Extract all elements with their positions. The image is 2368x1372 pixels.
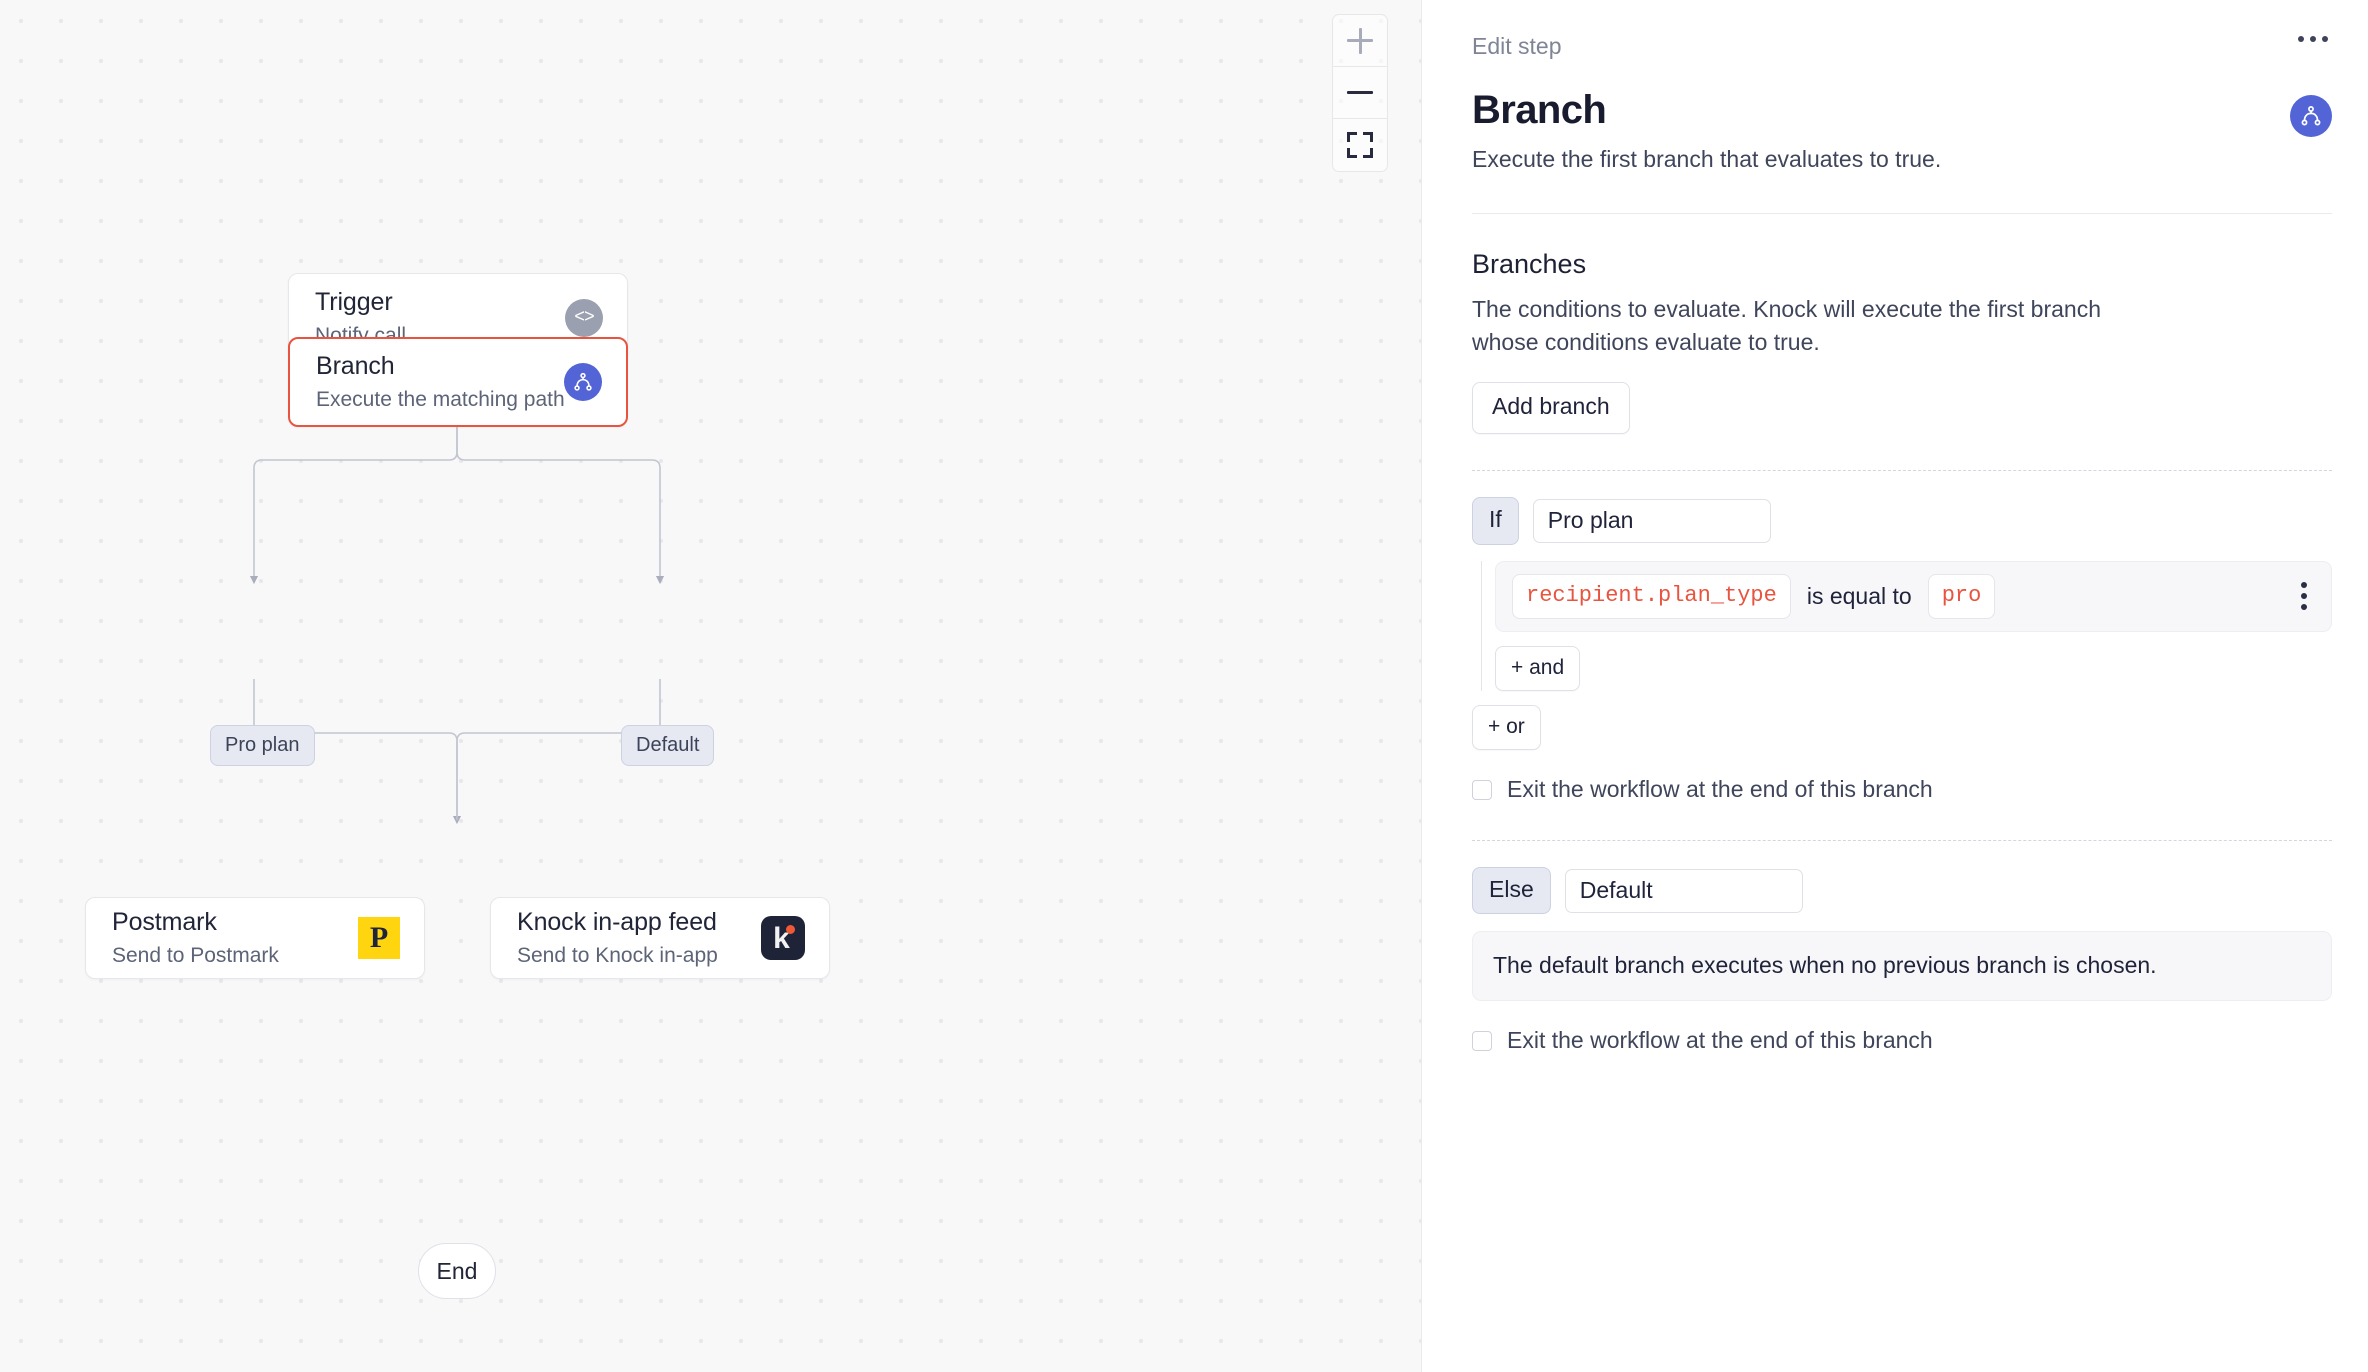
workflow-editor: Trigger Notify call <> Branch Execute th… (0, 0, 2368, 1372)
node-branch-text: Branch Execute the matching path (316, 350, 548, 413)
branch-if-exit-label: Exit the workflow at the end of this bra… (1507, 776, 1933, 804)
node-branch-subtitle: Execute the matching path (316, 386, 548, 413)
node-postmark-subtitle: Send to Postmark (112, 942, 342, 969)
panel-eyebrow: Edit step (1472, 33, 1562, 61)
fit-view-icon (1347, 132, 1373, 158)
node-postmark-text: Postmark Send to Postmark (112, 906, 342, 969)
branches-section-heading: Branches (1472, 248, 2332, 280)
minus-icon (1347, 91, 1373, 95)
knock-logo-dot (786, 925, 795, 934)
knock-logo-icon: k (761, 916, 805, 960)
postmark-logo-letter: P (370, 923, 388, 953)
branch-else-exit-checkbox[interactable] (1472, 1031, 1492, 1051)
workflow-canvas[interactable]: Trigger Notify call <> Branch Execute th… (0, 0, 1422, 1372)
node-end[interactable]: End (418, 1243, 496, 1299)
add-and-condition-button[interactable]: + and (1495, 646, 1580, 691)
branch-else-exit-row: Exit the workflow at the end of this bra… (1472, 1027, 2332, 1055)
branch-if-header: If (1472, 497, 2332, 545)
add-branch-button[interactable]: Add branch (1472, 382, 1630, 434)
node-trigger-badge: <> (565, 299, 603, 337)
branch-if-name-input[interactable] (1533, 499, 1771, 543)
postmark-logo-icon: P (358, 917, 400, 959)
fit-view-button[interactable] (1333, 119, 1387, 171)
node-postmark[interactable]: Postmark Send to Postmark P (85, 897, 425, 979)
branch-keyword-if: If (1472, 497, 1519, 545)
node-trigger-title: Trigger (315, 286, 549, 318)
condition-menu-icon[interactable] (2293, 576, 2315, 616)
edit-step-panel: Edit step Branch Execute the first branc… (1422, 0, 2368, 1372)
plus-icon (1347, 28, 1373, 54)
add-or-condition-button[interactable]: + or (1472, 705, 1541, 750)
condition-variable-token[interactable]: recipient.plan_type (1512, 574, 1791, 619)
page-title: Branch (1472, 87, 1941, 133)
branch-keyword-else: Else (1472, 867, 1551, 915)
branch-else-exit-label: Exit the workflow at the end of this bra… (1507, 1027, 1933, 1055)
node-branch[interactable]: Branch Execute the matching path (288, 337, 628, 427)
zoom-out-button[interactable] (1333, 67, 1387, 119)
panel-header: Edit step (1472, 0, 2332, 61)
edge-label-default[interactable]: Default (621, 725, 714, 766)
branch-else-name-input[interactable] (1565, 869, 1803, 913)
branch-if-exit-checkbox[interactable] (1472, 780, 1492, 800)
branches-section-description: The conditions to evaluate. Knock will e… (1472, 293, 2172, 358)
branch-else-note: The default branch executes when no prev… (1472, 931, 2332, 1001)
edge-label-text: Default (636, 734, 699, 756)
canvas-zoom-controls (1332, 14, 1388, 172)
node-knock-in-app-feed[interactable]: Knock in-app feed Send to Knock in-app k (490, 897, 830, 979)
page-description: Execute the first branch that evaluates … (1472, 144, 1941, 175)
node-branch-title: Branch (316, 350, 548, 382)
edge-label-pro-plan[interactable]: Pro plan (210, 725, 315, 766)
branch-else-header: Else (1472, 867, 2332, 915)
workflow-edges (0, 0, 1422, 1372)
zoom-in-button[interactable] (1333, 15, 1387, 67)
condition-rail (1481, 561, 1482, 692)
branch-if-conditions: recipient.plan_type is equal to pro + an… (1472, 561, 2332, 692)
condition-value-token[interactable]: pro (1928, 574, 1996, 619)
branch-tree-icon (2290, 95, 2332, 137)
node-postmark-title: Postmark (112, 906, 342, 938)
node-knock-badge: k (761, 916, 805, 960)
edge-label-text: Pro plan (225, 734, 300, 756)
condition-operator[interactable]: is equal to (1807, 583, 1912, 610)
condition-row: recipient.plan_type is equal to pro (1495, 561, 2332, 632)
branch-if: If recipient.plan_type is equal to pro (1472, 471, 2332, 840)
code-brackets-icon: <> (565, 299, 603, 337)
branch-if-exit-row: Exit the workflow at the end of this bra… (1472, 776, 2332, 804)
panel-divider (1472, 213, 2332, 214)
branch-tree-icon (564, 363, 602, 401)
node-branch-badge (564, 363, 602, 401)
more-options-icon[interactable] (2294, 30, 2332, 48)
node-knock-subtitle: Send to Knock in-app (517, 942, 745, 969)
panel-title-row: Branch Execute the first branch that eva… (1472, 87, 2332, 175)
branch-else: Else The default branch executes when no… (1472, 841, 2332, 1055)
node-postmark-badge: P (358, 917, 400, 959)
node-knock-title: Knock in-app feed (517, 906, 745, 938)
node-end-label: End (437, 1258, 478, 1285)
node-knock-text: Knock in-app feed Send to Knock in-app (517, 906, 745, 969)
